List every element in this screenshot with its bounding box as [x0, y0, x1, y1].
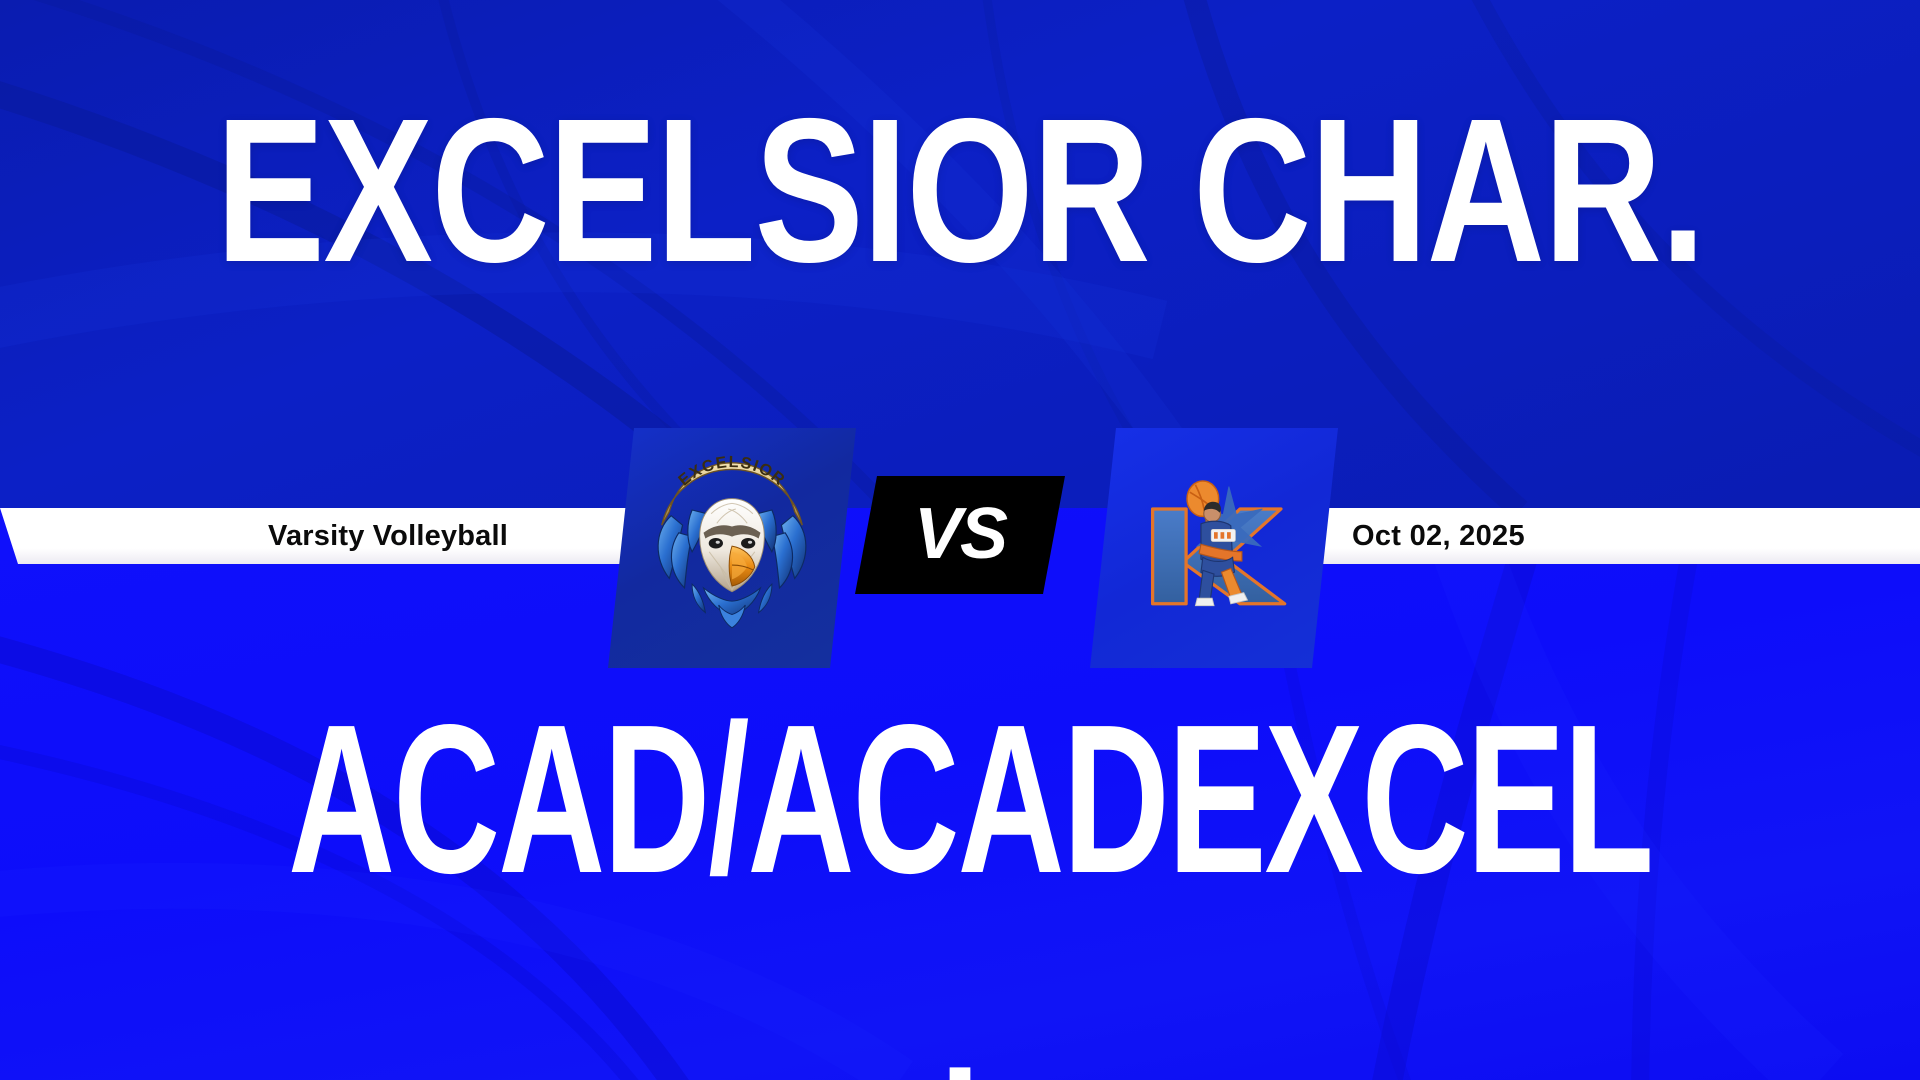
excelsior-eagles-crest-icon: EXCELSIOR — [608, 428, 856, 668]
excelsior-wordmark: EXCELSIOR — [675, 453, 789, 490]
svg-text:EXCELSIOR: EXCELSIOR — [675, 453, 789, 490]
versus-badge: VS — [855, 476, 1065, 594]
away-team-logo-panel — [1090, 428, 1338, 668]
home-team-logo-panel: EXCELSIOR — [608, 428, 856, 668]
date-label: Oct 02, 2025 — [1352, 508, 1525, 564]
versus-label: VS — [914, 498, 1006, 570]
away-team-title: ACAD/ACADEXCEL — [288, 700, 1632, 897]
sport-label: Varsity Volleyball — [268, 508, 508, 564]
matchup-graphic: EXCELSIOR CHAR. ACAD/ACADEXCEL I Varsity… — [0, 0, 1920, 1080]
home-team-title: EXCELSIOR CHAR. — [192, 96, 1728, 287]
k-monogram-athlete-icon — [1090, 428, 1338, 668]
clipped-next-line: I — [269, 1044, 1651, 1080]
